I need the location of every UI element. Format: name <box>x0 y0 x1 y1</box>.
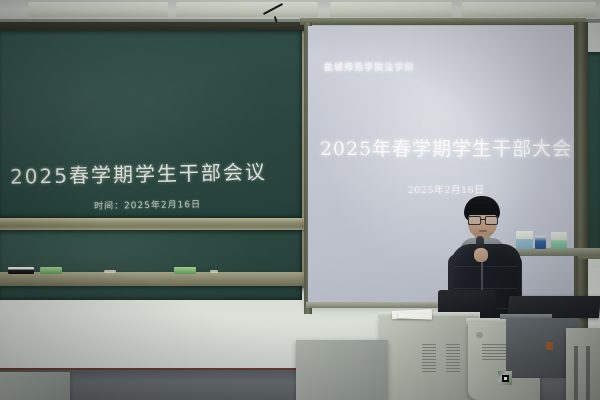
chalk-piece[interactable] <box>104 270 116 273</box>
vent-grille <box>422 344 436 374</box>
screen-top-bar <box>300 18 586 25</box>
blackboard-headline: 2025春学期学生干部会议 <box>10 155 303 190</box>
console-indicator <box>476 332 483 338</box>
foreground-object <box>0 372 70 400</box>
chalk-box[interactable] <box>535 236 546 249</box>
slide-date: 2025年2月16日 <box>312 182 580 196</box>
cabinet-divider <box>574 346 578 400</box>
mouse-cursor-center <box>504 377 507 380</box>
printed-papers[interactable] <box>398 312 432 319</box>
blackboard: 2025春学期学生干部会议 时间：2025年2月16日 <box>0 24 308 288</box>
board-eraser[interactable] <box>40 267 62 274</box>
hand <box>474 248 488 262</box>
light-tube-icon <box>330 2 452 17</box>
classroom-photo-scene: 2025春学期学生干部会议 时间：2025年2月16日 盐城师范学院法学院 20… <box>0 0 600 400</box>
slide-title: 2025年春学期学生干部大会 <box>312 134 580 161</box>
light-tube-icon <box>28 2 168 17</box>
chalk-piece[interactable] <box>210 270 218 273</box>
light-tube-icon <box>462 2 596 17</box>
chalk-tray <box>0 272 310 286</box>
mouth <box>479 230 487 232</box>
board-eraser[interactable] <box>174 267 196 274</box>
blackboard-subline: 时间：2025年2月16日 <box>94 197 201 212</box>
front-desk-block[interactable] <box>296 340 388 400</box>
projection-screen: 盐城师范学院法学院 2025年春学期学生干部大会 2025年2月16日 <box>308 26 580 304</box>
light-tube-icon <box>176 2 318 17</box>
blackboard-middle-rail[interactable] <box>0 218 308 230</box>
right-blackboard-panel <box>586 52 600 252</box>
left-cabinet[interactable] <box>380 316 478 400</box>
far-right-cabinet[interactable] <box>566 328 600 400</box>
board-eraser[interactable] <box>8 267 34 274</box>
blackboard-lower-panel <box>0 230 302 300</box>
slide-organization-line: 盐城师范学院法学院 <box>324 61 415 73</box>
jacket-seam <box>454 288 518 289</box>
glasses-left-lens <box>468 216 481 225</box>
console-orange-indicator <box>546 342 553 350</box>
vent-grille <box>446 344 460 374</box>
blackboard-upper-panel: 2025春学期学生干部会议 时间：2025年2月16日 <box>0 30 302 218</box>
cabinet-divider <box>586 346 590 400</box>
glasses-right-lens <box>485 216 498 225</box>
jacket-seam <box>454 266 518 267</box>
glasses-icon <box>468 216 497 223</box>
hair-fringe <box>465 204 499 215</box>
chalk-box[interactable] <box>551 232 567 249</box>
